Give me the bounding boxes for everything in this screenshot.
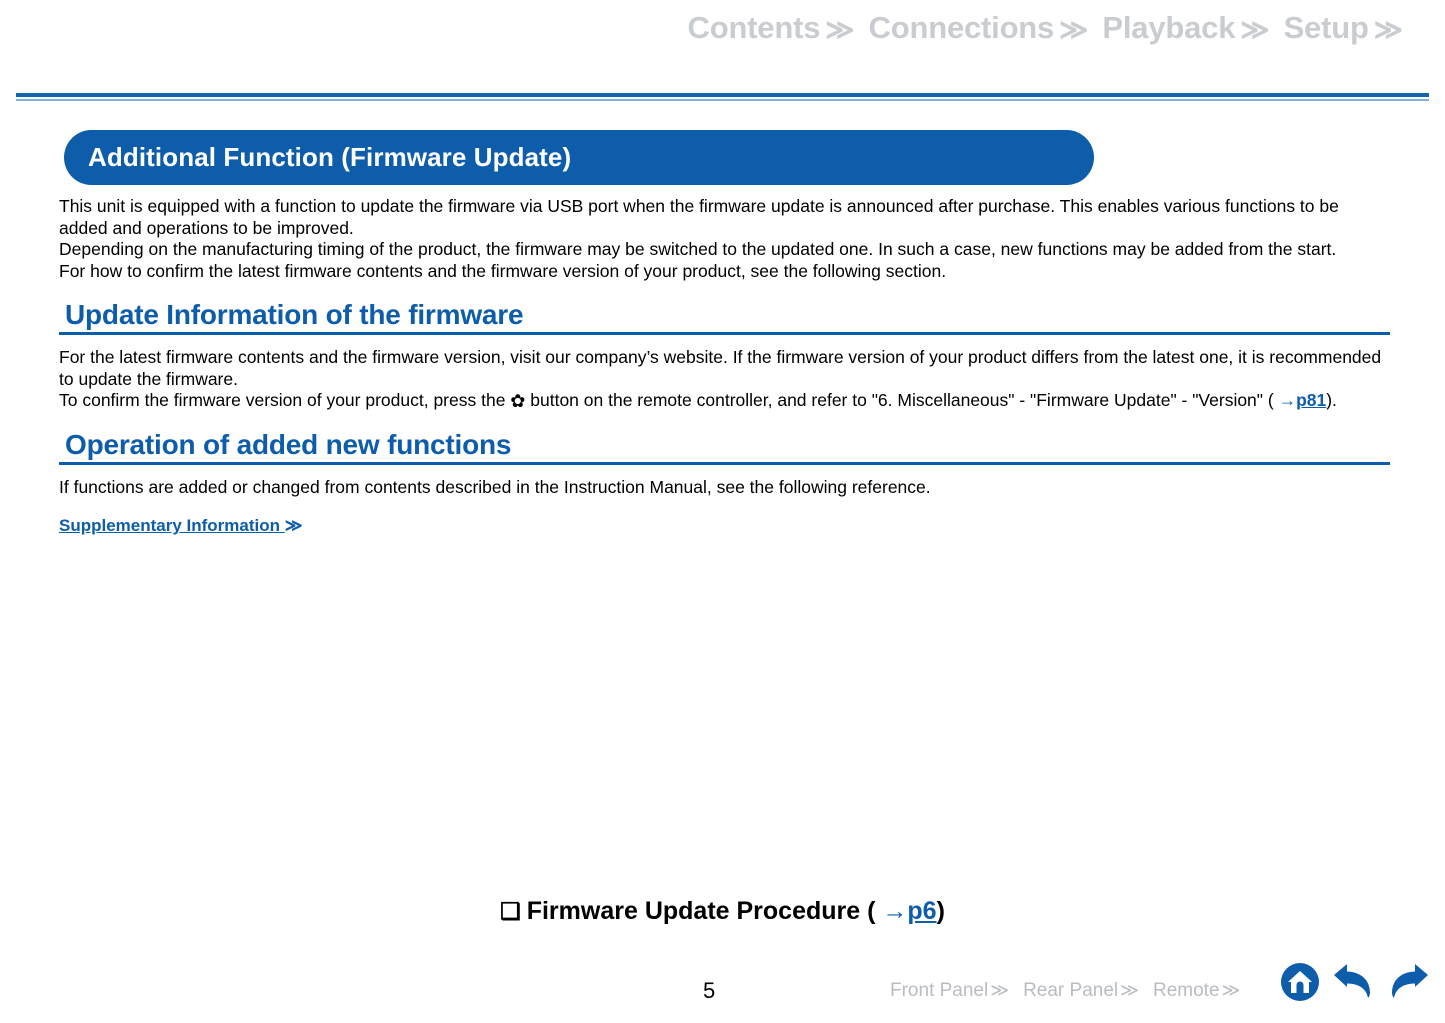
arrow-right-icon: → <box>1279 390 1297 410</box>
page-content: This unit is equipped with a function to… <box>59 196 1390 536</box>
section-heading-operation-added-functions: Operation of added new functions <box>59 428 1390 462</box>
section1-text-after-gear: button on the remote controller, and ref… <box>525 390 1278 410</box>
section-heading-update-information: Update Information of the firmware <box>59 298 1390 332</box>
procedure-label: Firmware Update Procedure ( <box>527 897 876 925</box>
footer-icon-bar <box>1280 962 1432 1002</box>
supplementary-information-label: Supplementary Information <box>59 516 280 535</box>
section1-text-end: ). <box>1326 390 1337 410</box>
section1-paragraph-2: To confirm the firmware version of your … <box>59 390 1390 412</box>
forward-arrow-icon[interactable] <box>1386 962 1432 1002</box>
footer-item-rear-panel[interactable]: Rear Panel <box>1023 980 1120 1002</box>
box-bullet-icon: ❑ <box>500 898 521 924</box>
page-number: 5 <box>703 978 715 1004</box>
back-arrow-icon[interactable] <box>1330 962 1376 1002</box>
header-divider-light <box>16 99 1429 101</box>
footer-item-front-panel[interactable]: Front Panel <box>890 980 990 1002</box>
intro-line-3: For how to confirm the latest firmware c… <box>59 261 1390 283</box>
chevron-double-right-icon: ≫ <box>990 980 1009 1001</box>
chevron-double-right-icon: ≫ <box>1120 980 1139 1001</box>
page-link-p81[interactable]: p81 <box>1296 390 1326 410</box>
chevron-double-right-icon: ≫ <box>285 516 303 536</box>
footer-navigation: Front Panel ≫ Rear Panel ≫ Remote ≫ <box>890 980 1254 1002</box>
footer-item-remote[interactable]: Remote <box>1153 980 1222 1002</box>
page-title-banner: Additional Function (Firmware Update) <box>64 130 1094 185</box>
header-divider <box>16 93 1429 97</box>
home-icon[interactable] <box>1280 962 1320 1002</box>
section-divider <box>59 462 1390 465</box>
chevron-double-right-icon: ≫ <box>1240 13 1269 46</box>
arrow-right-icon: → <box>882 897 907 925</box>
section-divider <box>59 332 1390 335</box>
firmware-update-procedure: ❑Firmware Update Procedure ( →p6) <box>0 897 1445 926</box>
chevron-double-right-icon: ≫ <box>1374 13 1403 46</box>
chevron-double-right-icon: ≫ <box>825 13 854 46</box>
intro-line-1: This unit is equipped with a function to… <box>59 196 1390 239</box>
chevron-double-right-icon: ≫ <box>1059 13 1088 46</box>
supplementary-information-link[interactable]: Supplementary Information ≫ <box>59 516 303 536</box>
intro-paragraph: This unit is equipped with a function to… <box>59 196 1390 282</box>
procedure-close-paren: ) <box>937 897 945 925</box>
top-navigation: Contents ≫ Connections ≫ Playback ≫ Setu… <box>686 10 1415 46</box>
topnav-item-playback[interactable]: Playback <box>1100 10 1237 46</box>
topnav-item-connections[interactable]: Connections <box>867 10 1057 46</box>
topnav-item-contents[interactable]: Contents <box>686 10 823 46</box>
topnav-item-setup[interactable]: Setup <box>1282 10 1371 46</box>
section1-paragraph-1: For the latest firmware contents and the… <box>59 347 1390 390</box>
chevron-double-right-icon: ≫ <box>1222 980 1241 1001</box>
section1-text-before-gear: To confirm the firmware version of your … <box>59 390 510 410</box>
page-link-p6[interactable]: p6 <box>907 897 936 925</box>
section2-paragraph-1: If functions are added or changed from c… <box>59 477 1390 499</box>
intro-line-2: Depending on the manufacturing timing of… <box>59 239 1390 261</box>
gear-icon: ✿ <box>510 391 525 411</box>
page-title: Additional Function (Firmware Update) <box>64 142 571 173</box>
